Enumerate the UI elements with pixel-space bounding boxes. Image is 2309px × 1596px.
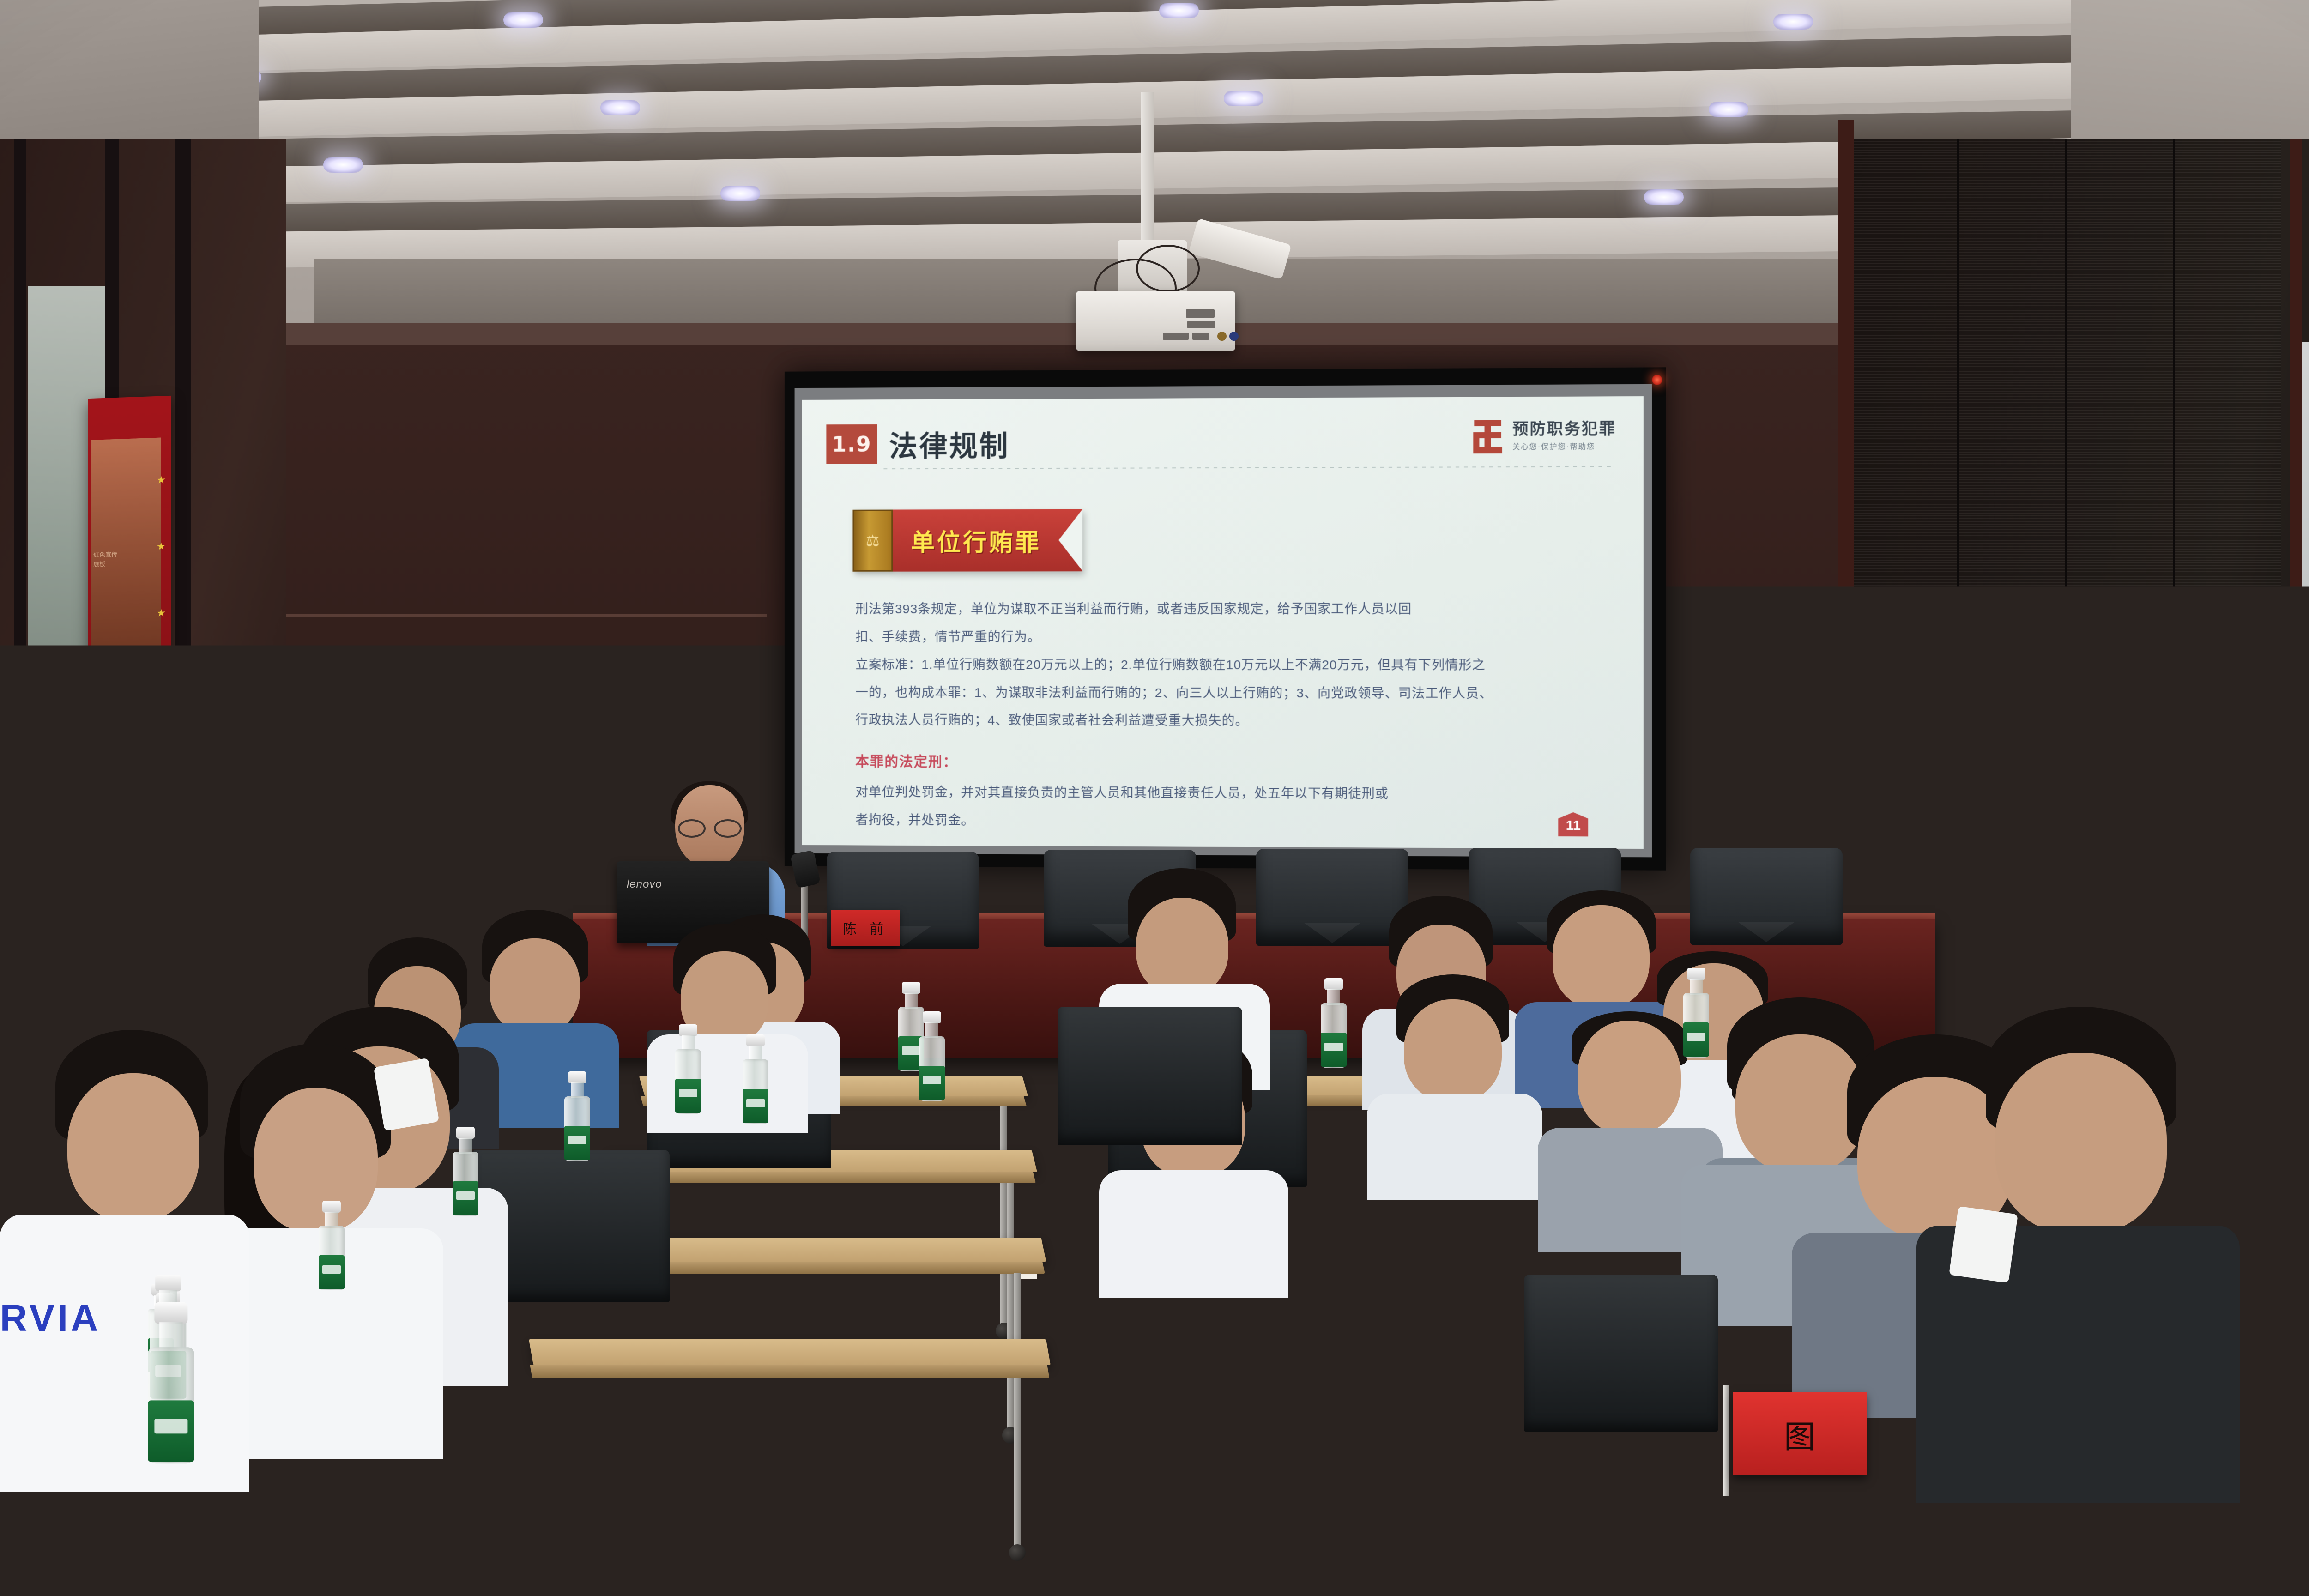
conference-chair [1690,848,1843,945]
desk-leg [1014,1273,1021,1550]
desk-edge [608,1172,1036,1183]
ceiling-downlight [1224,91,1263,106]
shirt-brand-logo: ORVIA [0,1297,101,1340]
crime-ribbon: ⚖ 单位行贿罪 [852,509,1082,572]
table-sign-right: 图 [1733,1392,1867,1475]
blind-rail [1849,591,2283,593]
scales-of-justice-icon: ⚖ [852,510,893,572]
header-divider [883,466,1615,469]
desk-caster [1561,1436,1578,1453]
body-line: 行政执法人员行贿的；4、致使国家或者社会利益遭受重大损失的。 [855,708,1601,735]
chair-back [1524,1275,1718,1432]
projection-screen: 1.9 法律规制 预防职务犯罪 关心您·保护您·帮助您 [785,367,1666,871]
presentation-slide: 1.9 法律规制 预防职务犯罪 关心您·保护您·帮助您 [802,396,1644,849]
ceiling-downlight [323,157,363,173]
slide-body: 刑法第393条规定，单位为谋取不正当利益而行贿，或者违反国家规定，给予国家工作人… [855,597,1601,839]
zheng-character-icon [1469,418,1506,455]
table-sign-left: 科技 [0,1409,106,1489]
wall-banner: 红色宣传展板 ★★★★★ [88,396,171,828]
presenter-nameplate: 陈 前 [831,910,900,946]
ceiling-downlight [503,12,543,28]
slide-title: 法律规制 [889,423,1009,465]
ceiling-downlight [1644,189,1684,205]
body-line: 扣、手续费，情节严重的行为。 [855,625,1601,650]
projector-cable [1136,245,1200,292]
body-line: 刑法第393条规定，单位为谋取不正当利益而行贿，或者违反国家规定，给予国家工作人… [855,597,1601,622]
screen-bezel: 1.9 法律规制 预防职务犯罪 关心您·保护您·帮助您 [795,384,1652,858]
logo-tagline: 关心您·保护您·帮助您 [1512,440,1616,451]
eyeglasses-icon [678,819,742,834]
chair-back [1058,1007,1242,1145]
face-mask [1949,1206,2018,1283]
ceiling-downlight [720,186,760,201]
slide-header: 1.9 法律规制 [826,423,1009,465]
ceiling-downlight [1159,3,1199,18]
body-line: 立案标准：1.单位行贿数额在20万元以上的；2.单位行贿数额在10万元以上不满2… [855,653,1601,678]
ceiling-downlight [600,100,640,115]
desk-caster [1009,1544,1026,1561]
training-room-scene: 红色宣传展板 ★★★★★ 1.9 [0,0,2309,1596]
desk [529,1339,1051,1365]
face-mask [374,1058,439,1131]
penalty-heading: 本罪的法定刑： [855,749,1601,778]
laptop-brand-label: lenovo [627,878,662,891]
organization-logo: 预防职务犯罪 关心您·保护您·帮助您 [1469,418,1616,455]
penalty-line: 者拘役，并处罚金。 [855,808,1601,836]
desk-leg [1000,1106,1007,1327]
desk-asset-tag [914,1376,940,1390]
section-number-badge: 1.9 [826,424,877,464]
banner-mountain-graphic [91,678,155,800]
attendee [647,924,808,1127]
projector [1076,291,1235,351]
ribbon-label: 单位行贿罪 [893,509,1082,572]
logo-name: 预防职务犯罪 [1512,421,1616,437]
person-left-doorway [18,799,102,951]
desk-leg [1007,1183,1014,1433]
wall-panel-line [277,614,767,617]
desk-edge [530,1365,1050,1378]
screen-indicator-led [1652,375,1662,385]
penalty-line: 对单位判处罚金，并对其直接负责的主管人员和其他直接责任人员，处五年以下有期徒刑或 [855,780,1601,808]
banner-stars: ★★★★★ [154,447,168,780]
ceiling-downlight [1709,102,1748,117]
banner-text: 红色宣传展板 [93,550,122,569]
logo-text-block: 预防职务犯罪 关心您·保护您·帮助您 [1512,421,1616,451]
body-line: 一的，也构成本罪：1、为谋取非法利益而行贿的；2、向三人以上行贿的；3、向党政领… [855,680,1601,707]
sign-stand [1723,1385,1729,1496]
attendee [1367,974,1542,1191]
ceiling-downlight [1773,14,1813,30]
projector-pole [1141,92,1154,245]
